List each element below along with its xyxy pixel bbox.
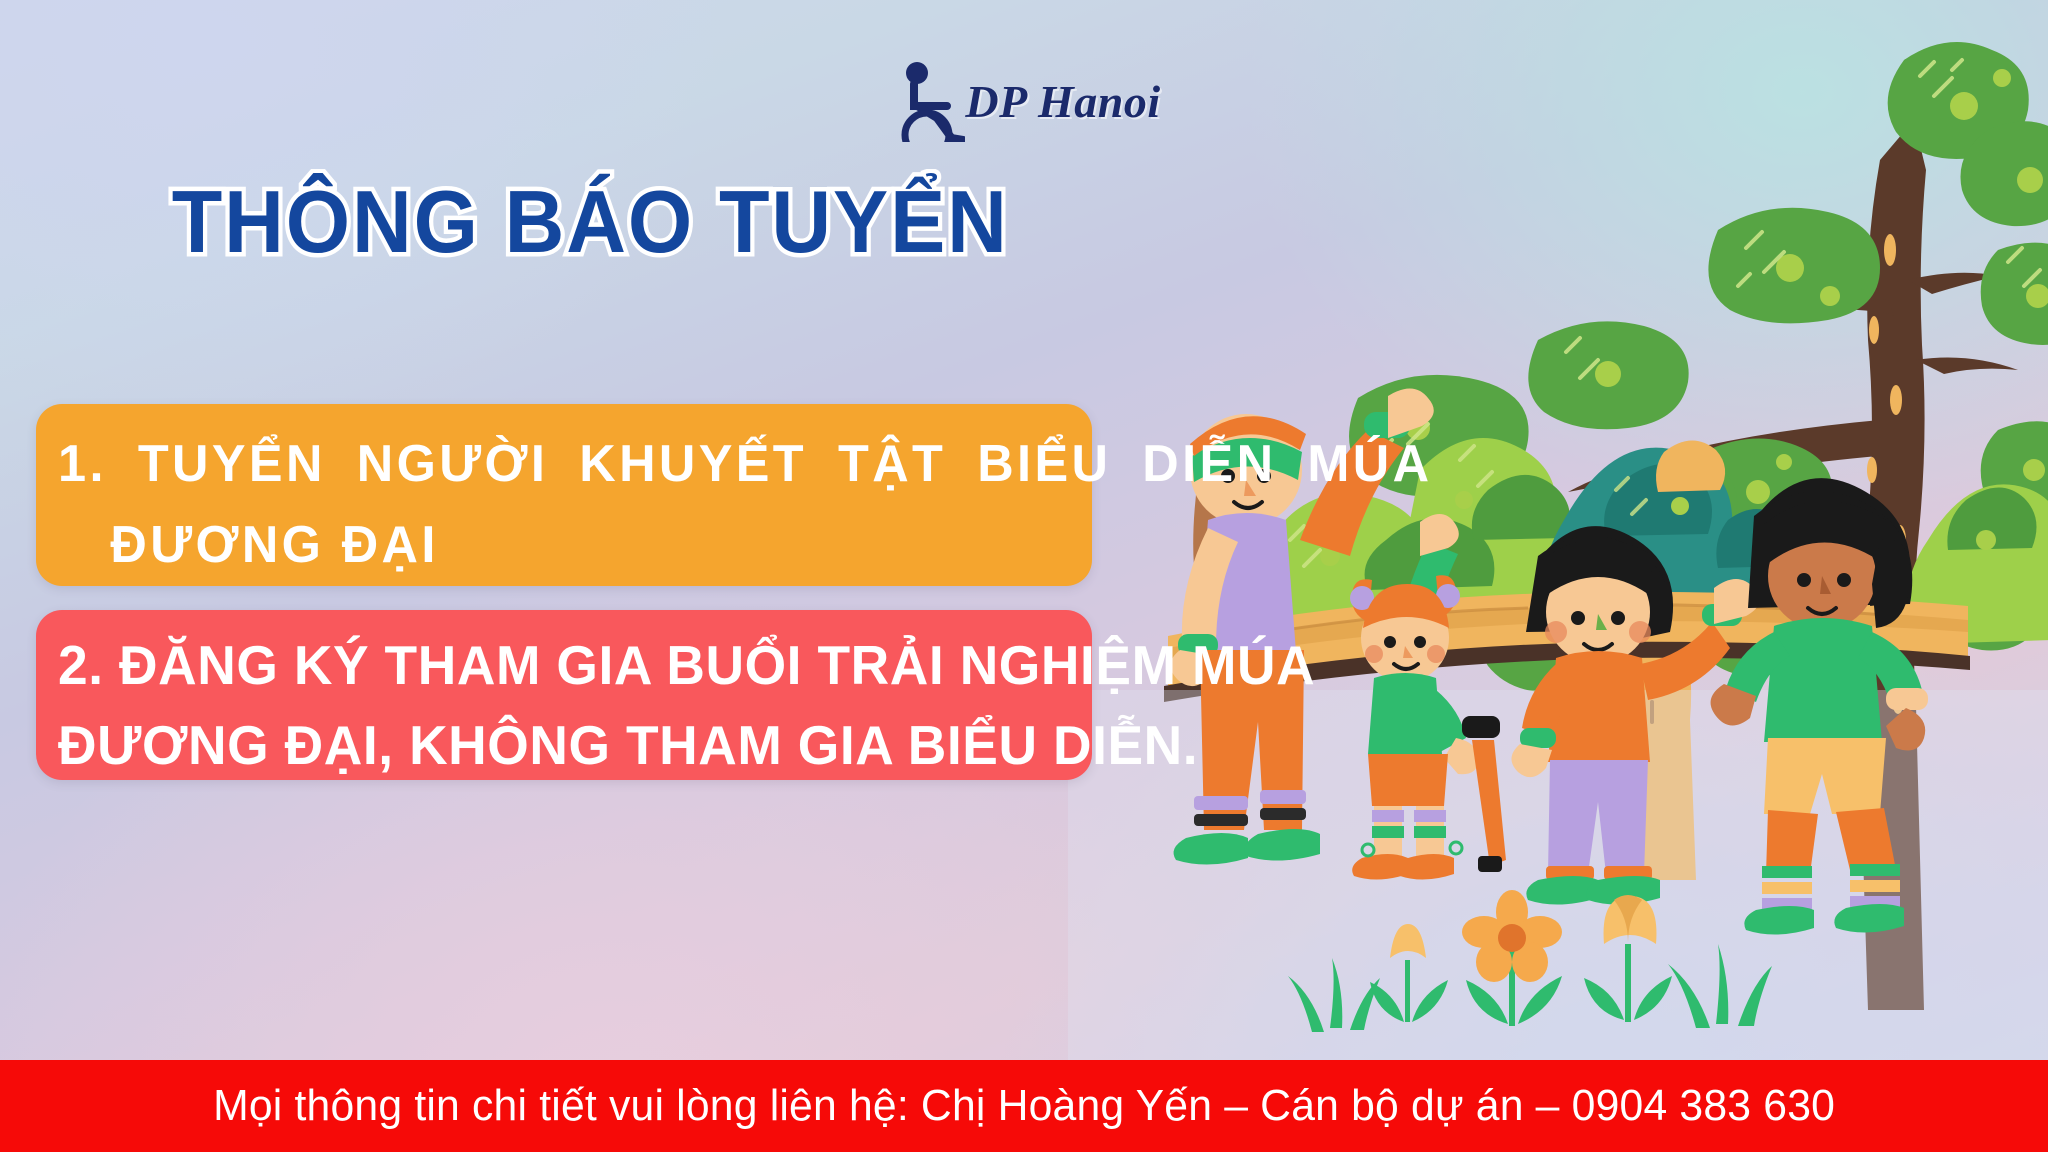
poster-canvas: DP Hanoi THÔNG BÁO TUYỂN 1. TUYỂN NGƯỜI …: [0, 0, 2048, 1152]
page-title-text: THÔNG BÁO TUYỂN: [171, 176, 1008, 268]
page-title: THÔNG BÁO TUYỂN: [0, 176, 1180, 268]
contact-footer-text: Mọi thông tin chi tiết vui lòng liên hệ:…: [213, 1081, 1835, 1131]
contact-footer-banner: Mọi thông tin chi tiết vui lòng liên hệ:…: [0, 1060, 2048, 1152]
item-2-line-1: 2. ĐĂNG KÝ THAM GIA BUỔI TRẢI NGHIỆM MÚA: [58, 624, 1036, 706]
wheelchair-accessibility-icon: [887, 60, 965, 142]
announcement-item-2: 2. ĐĂNG KÝ THAM GIA BUỔI TRẢI NGHIỆM MÚA…: [36, 610, 1092, 780]
item-1-line-1: 1. TUYỂN NGƯỜI KHUYẾT TẬT BIỂU DIỄN MÚA: [58, 422, 1036, 506]
item-2-line-2: ĐƯƠNG ĐẠI, KHÔNG THAM GIA BIỂU DIỄN.: [58, 706, 1036, 784]
logo-brand-text: DP Hanoi: [965, 75, 1160, 128]
illustration-children-outdoors: [1068, 0, 2048, 1080]
logo: DP Hanoi: [0, 58, 2048, 144]
item-1-line-2: ĐƯƠNG ĐẠI: [58, 506, 1036, 584]
announcement-item-1: 1. TUYỂN NGƯỜI KHUYẾT TẬT BIỂU DIỄN MÚA …: [36, 404, 1092, 586]
